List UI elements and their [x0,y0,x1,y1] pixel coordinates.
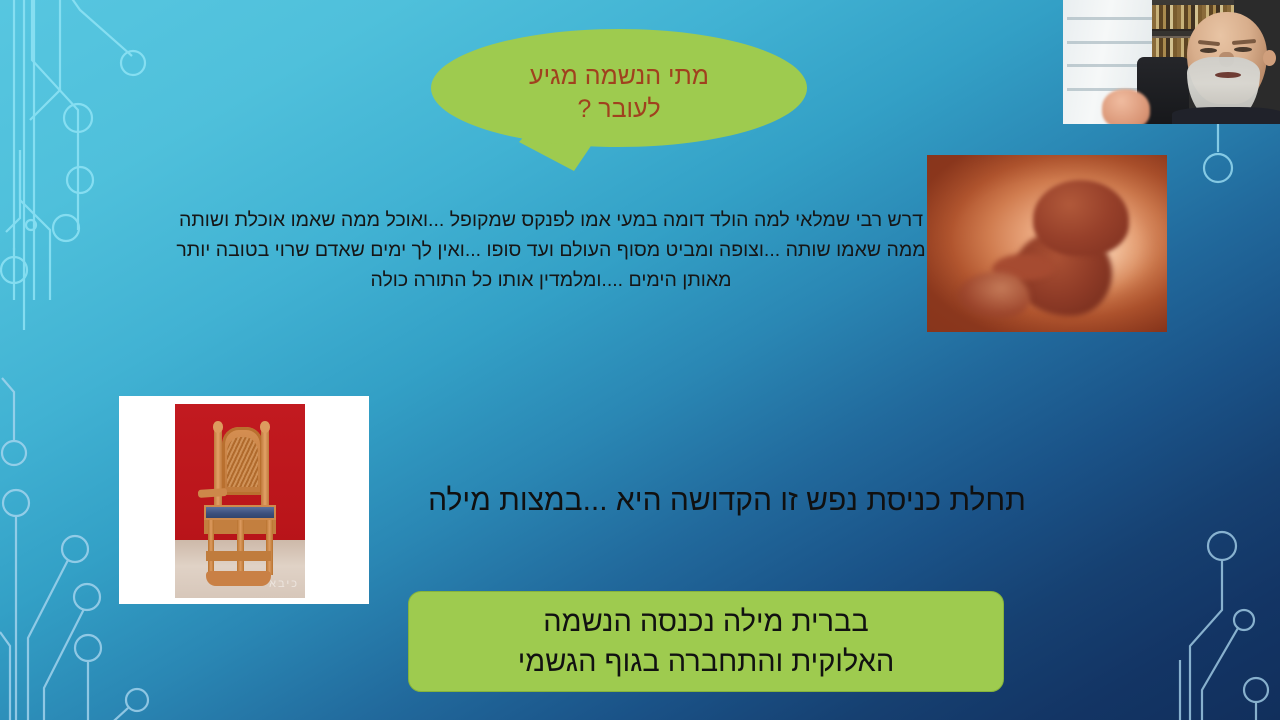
chair-leg-right [266,520,273,574]
webcam-blind-slat [1067,17,1158,20]
fetus-photo-vignette [927,155,1167,332]
chair-shelf [206,551,271,561]
presenter-webcam-overlay[interactable] [1063,0,1280,124]
speech-bubble: מתי הנשמה מגיע לעובר ? [424,26,814,171]
conclusion-callout-text: בברית מילה נכנסה הנשמה האלוקית והתחברה ב… [518,602,894,682]
fetus-in-womb-photo [927,155,1167,332]
webcam-blind-slat [1067,41,1158,44]
webcam-hand [1102,89,1150,124]
chair-photo-watermark: כיבא [269,578,299,590]
slide-headline: תחלת כניסת נפש זו הקדושה היא ...במצות מי… [366,482,1088,520]
chair-leg-left [208,520,215,574]
webcam-ear [1263,50,1276,66]
webcam-mouth [1215,72,1241,78]
circuit-decoration-left [0,0,150,720]
presentation-slide: מתי הנשמה מגיע לעובר ? דרש רבי שמלאי למה… [0,0,1280,720]
chair-armrest [198,488,227,498]
chair-leg-middle [237,520,244,574]
chair-finial-right [260,421,270,433]
chair-base [206,571,271,587]
speech-bubble-text: מתי הנשמה מגיע לעובר ? [424,60,814,126]
elijah-chair-photo: כיבא [119,396,369,604]
body-paragraph: דרש רבי שמלאי למה הולד דומה במעי אמו לפנ… [170,205,932,295]
chair-photo-inner: כיבא [175,404,305,598]
chair-seat-cushion [204,505,277,521]
conclusion-callout-box: בברית מילה נכנסה הנשמה האלוקית והתחברה ב… [408,591,1004,692]
chair-carving [227,437,258,487]
chair-finial-left [213,421,223,433]
webcam-shoulder [1172,107,1280,124]
